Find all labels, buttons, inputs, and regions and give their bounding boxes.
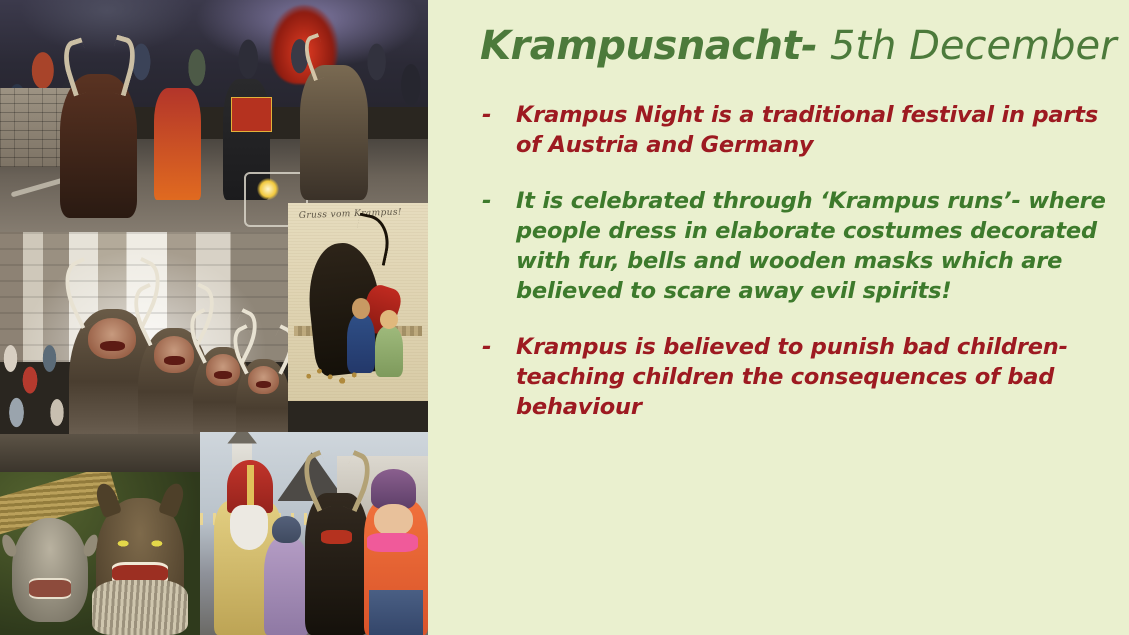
parade-scene <box>0 0 428 232</box>
carved-wooden-masks-photo <box>0 472 200 635</box>
market-krampus-figure <box>305 493 369 635</box>
krampus-mask-2 <box>154 336 194 372</box>
bullet-marker-2: - <box>476 186 516 216</box>
krampus-mask-1 <box>88 318 136 359</box>
street-spectators <box>0 318 75 452</box>
bullet-text-2: It is celebrated through ‘Krampus runs’-… <box>516 186 1106 306</box>
girl-pink-scarf <box>367 533 418 552</box>
krampus-parade-photo <box>0 0 428 232</box>
masks-scene <box>0 472 200 635</box>
krampus-mask-4 <box>248 366 279 394</box>
presentation-slide: Gruss vom Krampus! <box>0 0 1129 635</box>
krampus-costume-left <box>60 74 137 218</box>
bullet-list: - Krampus Night is a traditional festiva… <box>476 100 1106 448</box>
mask-right-eyes <box>110 536 170 551</box>
bullet-marker-1: - <box>476 100 516 130</box>
slide-title-main: Krampusnacht- <box>480 23 817 69</box>
bullet-item-3: - Krampus is believed to punish bad chil… <box>476 332 1106 422</box>
mask-fur-beard <box>92 580 188 635</box>
slide-title: Krampusnacht- 5th December <box>480 24 1120 68</box>
gruss-vom-krampus-postcard: Gruss vom Krampus! <box>288 203 428 401</box>
image-collage: Gruss vom Krampus! <box>0 0 428 635</box>
postcard-girl <box>375 326 403 377</box>
mask-left-mouth <box>29 578 72 599</box>
bullet-item-1: - Krampus Night is a traditional festiva… <box>476 100 1106 160</box>
red-placard <box>231 97 272 131</box>
girl-jeans <box>369 590 424 635</box>
lantern-light <box>257 178 279 200</box>
krampus-chains <box>302 357 369 389</box>
bullet-text-3: Krampus is believed to punish bad childr… <box>516 332 1106 422</box>
market-krampus-mouth <box>321 530 352 544</box>
postcard-scene: Gruss vom Krampus! <box>288 203 428 401</box>
slide-content-panel: Krampusnacht- 5th December - Krampus Nig… <box>428 0 1129 635</box>
bullet-text-1: Krampus Night is a traditional festival … <box>516 100 1106 160</box>
saint-nicholas-children-krampus-photo <box>200 432 428 635</box>
red-cloak-figure <box>154 88 201 199</box>
wooden-mask-left <box>12 518 88 622</box>
saint-nicholas-beard <box>230 505 269 550</box>
krampus-mask-3 <box>206 354 240 385</box>
krampus-costume-right <box>300 65 368 200</box>
girl-face <box>374 504 412 536</box>
small-child-figure <box>264 538 310 635</box>
bullet-item-2: - It is celebrated through ‘Krampus runs… <box>476 186 1106 306</box>
bullet-marker-3: - <box>476 332 516 362</box>
slide-title-date: 5th December <box>817 23 1116 69</box>
market-square-scene <box>200 432 428 635</box>
